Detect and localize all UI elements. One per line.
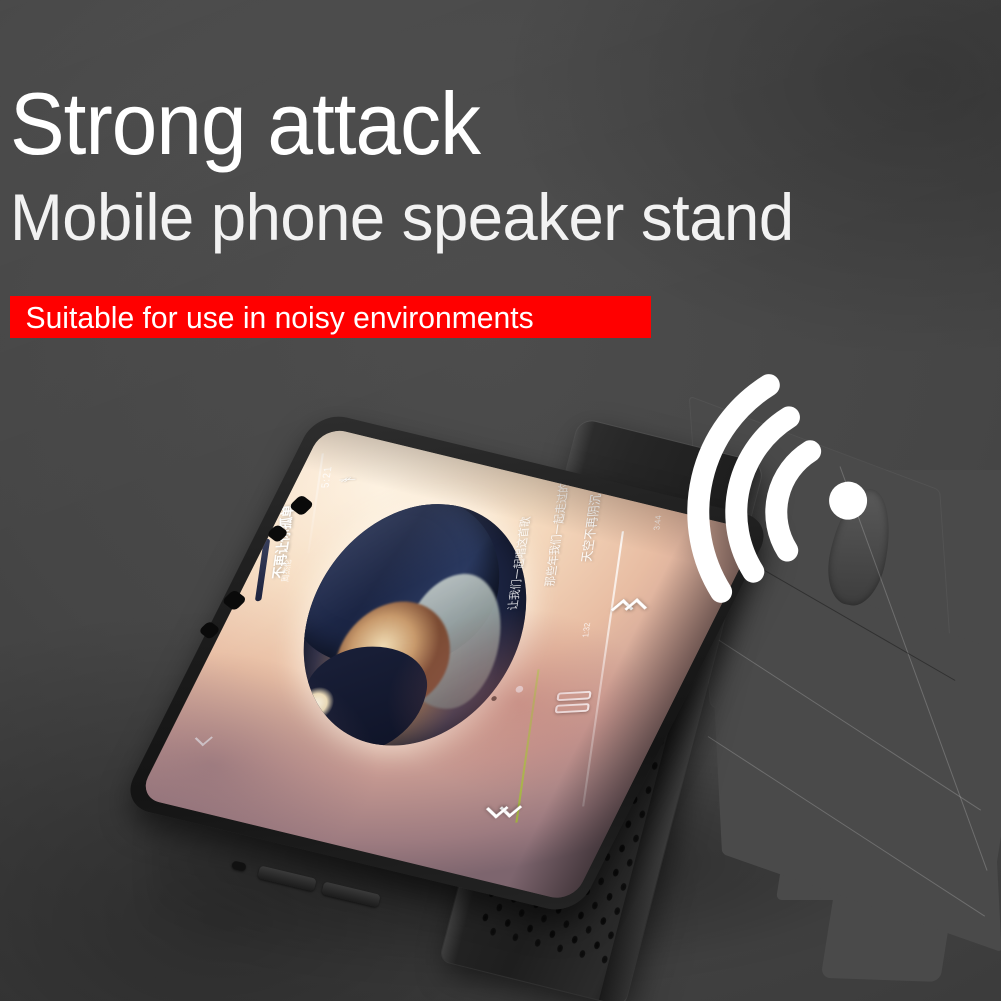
ad-canvas: ᚬ 5:21 不再让你孤单 周杰伦 天空不再阴沉 那些年我们一起走过的路 让我们… [0, 0, 1001, 1001]
headline-primary: Strong attack [10, 80, 480, 168]
tagline-text: Suitable for use in noisy environments [10, 302, 534, 333]
tagline-banner: Suitable for use in noisy environments [10, 296, 651, 338]
headline-secondary: Mobile phone speaker stand [10, 184, 794, 250]
